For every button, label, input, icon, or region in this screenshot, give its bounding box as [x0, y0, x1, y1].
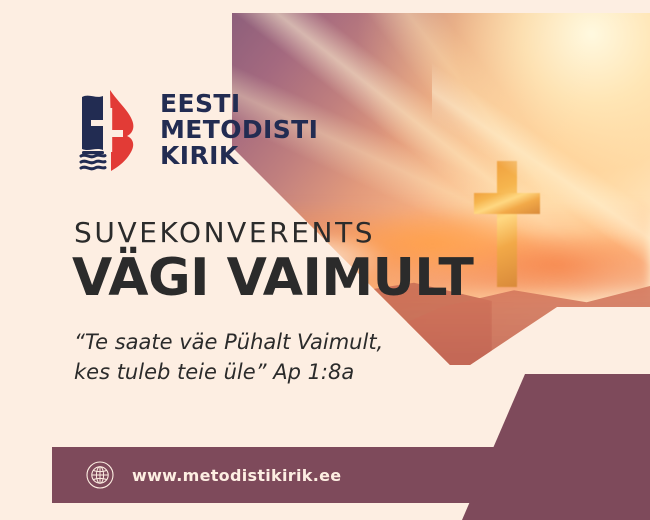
logo-line-1: EESTI: [160, 91, 318, 117]
church-logo: EESTI METODISTI KIRIK: [76, 88, 318, 172]
quote-line-1: “Te saate väe Pühalt Vaimult,: [74, 328, 383, 358]
quote-line-2: kes tuleb teie üle” Ap 1:8a: [74, 358, 383, 388]
poster-canvas: EESTI METODISTI KIRIK SUVEKONVERENTS VÄG…: [0, 0, 650, 520]
event-kicker: SUVEKONVERENTS: [74, 216, 375, 249]
page-title: VÄGI VAIMULT: [72, 248, 473, 308]
logo-line-2: METODISTI: [160, 117, 318, 143]
logo-line-3: KIRIK: [160, 143, 318, 169]
christian-cross-icon: [474, 161, 540, 287]
sunset-cross-photo: [232, 13, 650, 365]
cross-horizontal-bar: [474, 193, 540, 214]
cross-and-flame-icon: [76, 88, 142, 172]
globe-icon: [86, 461, 114, 489]
footer-bar: www.metodistikirik.ee: [52, 447, 530, 503]
website-url[interactable]: www.metodistikirik.ee: [132, 466, 341, 485]
logo-wordmark: EESTI METODISTI KIRIK: [160, 91, 318, 168]
scripture-quote: “Te saate väe Pühalt Vaimult, kes tuleb …: [74, 328, 383, 388]
cross-vertical-bar: [497, 161, 517, 287]
